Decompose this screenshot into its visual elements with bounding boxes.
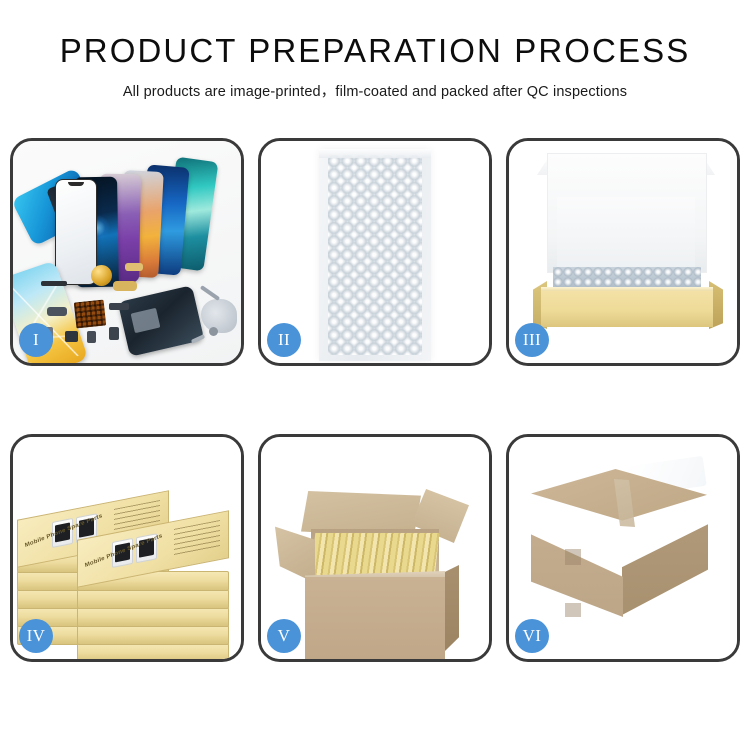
step-panel-3: III [506,138,740,366]
product-preparation-infographic: PRODUCT PREPARATION PROCESS All products… [0,0,750,750]
stacked-box-b2 [77,589,229,609]
bubble-pattern [328,155,422,355]
carton-left-flap [275,523,315,583]
step-panel-1: I [10,138,244,366]
step-panel-4: Mobile Phone Spare Parts Mobile Phone Sp… [10,434,244,662]
stacked-box-b4 [77,625,229,645]
header: PRODUCT PREPARATION PROCESS All products… [0,0,750,101]
antenna-cable [109,303,129,310]
page-title: PRODUCT PREPARATION PROCESS [0,34,750,69]
carton-tab-2 [565,603,581,617]
speaker-module [65,331,78,342]
gold-flex-2 [125,263,143,271]
carton-side-face [445,565,459,651]
step-panel-6: VI [506,434,740,662]
yellow-boxes-inside-carton [311,533,440,577]
box-front-panel [541,291,713,327]
stacked-box-b5 [77,643,229,659]
chip-grid [74,300,107,329]
flex-cable-2 [47,307,67,316]
step-badge-1: I [19,323,53,357]
motherboard [118,285,205,357]
phone-front-glass [55,179,97,285]
step-badge-3: III [515,323,549,357]
gold-flex-1 [113,281,137,291]
tweezers [200,285,220,301]
page-subtitle: All products are image-printed，film-coat… [0,80,750,101]
step-badge-6: VI [515,619,549,653]
stacked-box-b3 [77,607,229,627]
carton-front-face [305,577,445,659]
foam-liner [557,197,695,269]
step-badge-2: II [267,323,301,357]
bubble-wrap-pouch [319,149,431,361]
step-badge-4: IV [19,619,53,653]
vibration-motor [109,327,119,340]
battery-connector [87,331,96,343]
flex-cable-1 [41,281,67,286]
process-steps-grid: I II III [10,138,740,662]
step-panel-2: II [258,138,492,366]
carton-tab-1 [565,549,581,565]
screw-1 [209,327,218,336]
pouch-seal [319,149,431,158]
step-panel-5: V [258,434,492,662]
gold-connector [91,265,112,286]
repair-tool [201,299,237,333]
step-badge-5: V [267,619,301,653]
